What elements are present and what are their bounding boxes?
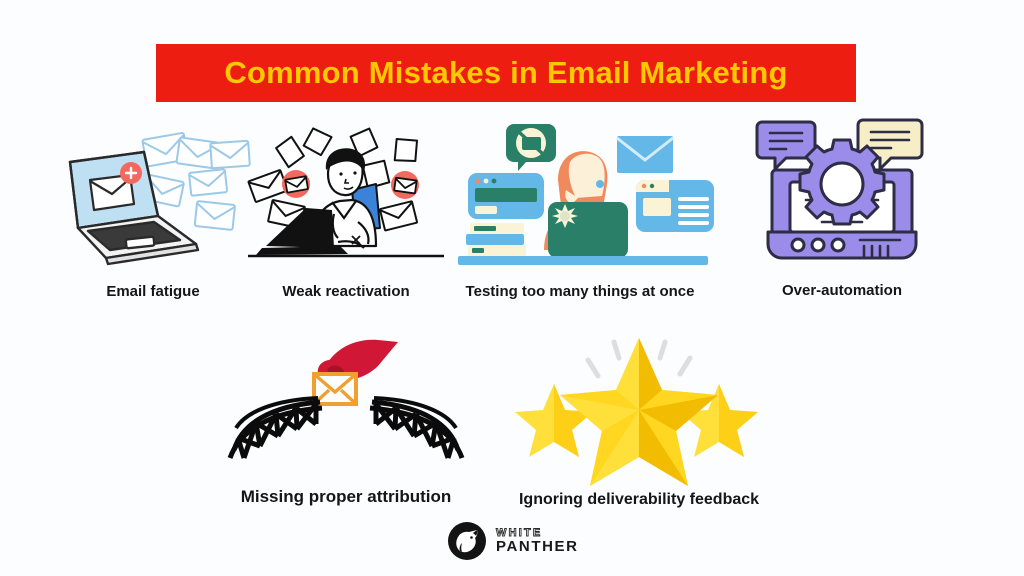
person-at-laptop-flying-letters-icon: [248, 118, 444, 268]
envelope-icon: [314, 374, 356, 404]
left-ui-card: [468, 173, 544, 219]
card-testing: Testing too many things at once: [450, 118, 710, 268]
laptop-overflowing-inbox-icon: [48, 118, 258, 268]
gear-icon: [800, 140, 884, 224]
alert-envelope-right: [391, 171, 419, 199]
card-label: Over-automation: [740, 282, 944, 299]
infographic-canvas: Common Mistakes in Email Marketing: [0, 0, 1024, 576]
machine-gear-chat-bubbles-icon: [740, 112, 944, 270]
email-fatigue-art: [48, 118, 258, 268]
over-automation-art: [740, 112, 944, 262]
card-label: Missing proper attribution: [228, 487, 464, 507]
weak-reactivation-art: [248, 118, 444, 268]
title-banner: Common Mistakes in Email Marketing: [156, 44, 856, 102]
person-multitasking-flat-icon: [450, 118, 710, 268]
card-over-automation: Over-automation: [740, 112, 944, 262]
card-attribution: Missing proper attribution: [228, 332, 464, 472]
deliverability-art: [510, 326, 768, 476]
card-weak-reactivation: Weak reactivation: [248, 118, 444, 268]
bridge-left: [230, 398, 322, 458]
chat-bubble-left: [757, 122, 815, 169]
star-center: [560, 338, 718, 486]
card-deliverability: Ignoring deliverability feedback: [510, 326, 768, 476]
alert-envelope-left: [282, 170, 310, 198]
broken-bridge-hand-envelope-icon: [228, 332, 464, 480]
card-label: Weak reactivation: [248, 283, 444, 300]
card-email-fatigue: Email fatigue: [48, 118, 258, 268]
books-stack: [466, 223, 526, 256]
card-label: Email fatigue: [48, 283, 258, 300]
card-label: Ignoring deliverability feedback: [510, 491, 768, 509]
panther-head-circle-logo-icon: [447, 521, 487, 561]
logo-brand-line2: PANTHER: [496, 539, 579, 554]
attribution-art: [228, 332, 464, 472]
card-label: Testing too many things at once: [450, 283, 710, 300]
bridge-right: [370, 398, 462, 458]
right-ui-card: [636, 180, 714, 232]
testing-art: [450, 118, 710, 268]
logo-wordmark: WHITE PANTHER: [496, 528, 579, 555]
blocked-mail-icon: [506, 124, 556, 171]
three-stars-rating-icon: [510, 326, 768, 478]
blue-envelope-icon: [617, 136, 673, 173]
footer-logo: WHITE PANTHER: [447, 521, 579, 561]
page-title: Common Mistakes in Email Marketing: [224, 55, 787, 91]
